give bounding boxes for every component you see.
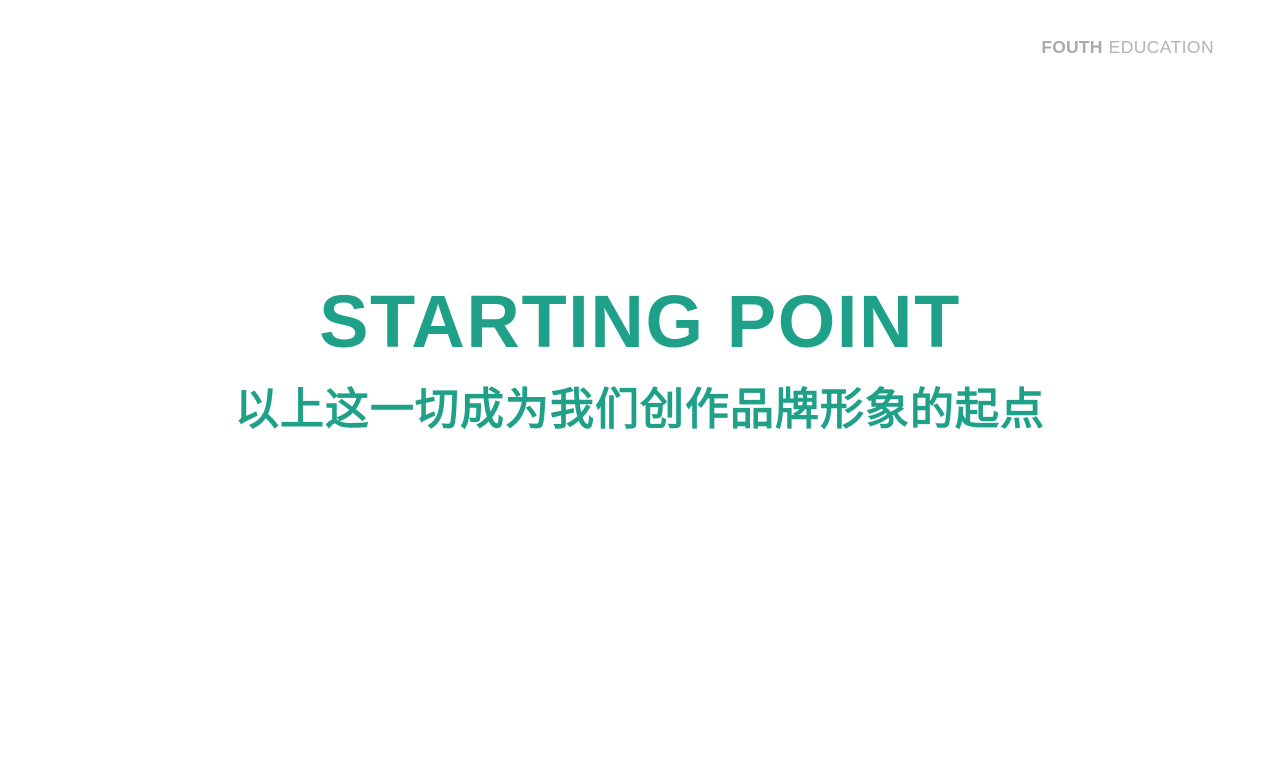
hero-block: STARTING POINT 以上这一切成为我们创作品牌形象的起点 (0, 283, 1280, 436)
brand-name-primary: FOUTH (1041, 39, 1102, 57)
brand-name-secondary: EDUCATION (1109, 39, 1214, 57)
brand-logo: FOUTH EDUCATION (1041, 39, 1214, 57)
page-title: STARTING POINT (0, 283, 1280, 361)
presentation-slide: FOUTH EDUCATION STARTING POINT 以上这一切成为我们… (0, 0, 1280, 768)
page-subtitle: 以上这一切成为我们创作品牌形象的起点 (0, 385, 1280, 435)
